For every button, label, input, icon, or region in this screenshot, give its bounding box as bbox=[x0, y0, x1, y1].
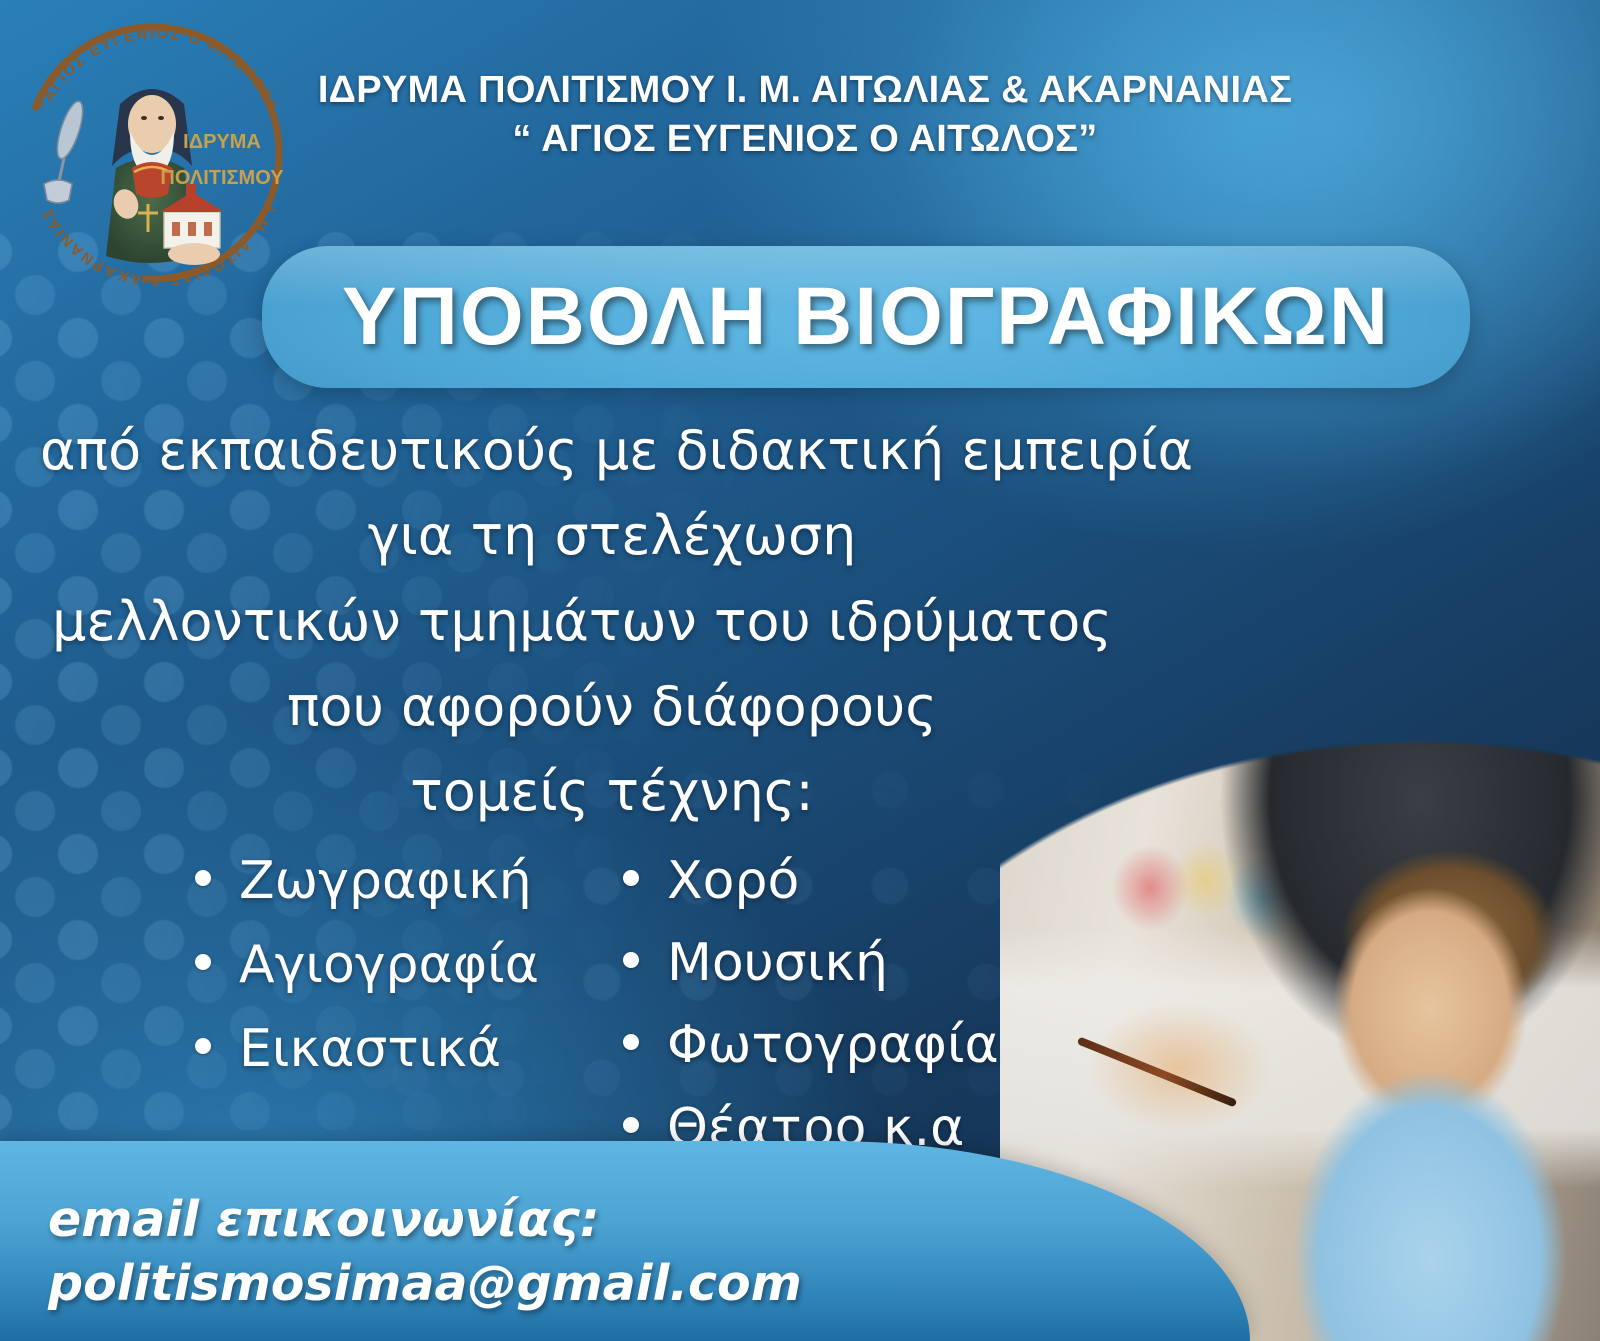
art-field-label: Αγιογραφία bbox=[239, 936, 539, 994]
quill-pen-icon bbox=[44, 99, 88, 203]
bullet-dot-icon bbox=[195, 954, 211, 970]
body-line-1: από εκπαιδευτικούς με διδακτική εμπειρία bbox=[12, 408, 1212, 493]
bullet-dot-icon bbox=[195, 1038, 211, 1054]
art-fields-column-right: Χορό Μουσική Φωτογραφία Θέατρο κ.α bbox=[623, 852, 1043, 1181]
list-item: Εικαστικά bbox=[195, 1020, 585, 1078]
art-field-label: Χορό bbox=[667, 852, 799, 910]
art-fields-columns: Ζωγραφική Αγιογραφία Εικαστικά Χορό Μουσ… bbox=[195, 852, 1055, 1181]
organization-header: ΙΔΡΥΜΑ ΠΟΛΙΤΙΣΜΟΥ Ι. Μ. ΑΙΤΩΛΙΑΣ & ΑΚΑΡΝ… bbox=[190, 66, 1420, 163]
seal-inner-text-line2: ΠΟΛΙΤΙΣΜΟΥ bbox=[160, 167, 284, 189]
organization-name-line2: “ ΑΓΙΟΣ ΕΥΓΕΝΙΟΣ Ο ΑΙΤΩΛΟΣ” bbox=[190, 115, 1420, 164]
bullet-dot-icon bbox=[623, 1117, 639, 1133]
body-copy: από εκπαιδευτικούς με διδακτική εμπειρία… bbox=[12, 408, 1212, 835]
art-field-label: Εικαστικά bbox=[239, 1020, 501, 1078]
list-item: Μουσική bbox=[623, 934, 1043, 992]
bullet-dot-icon bbox=[623, 870, 639, 886]
list-item: Αγιογραφία bbox=[195, 936, 585, 994]
title-banner: ΥΠΟΒΟΛΗ ΒΙΟΓΡΑΦΙΚΩΝ bbox=[262, 246, 1470, 388]
organization-name-line1: ΙΔΡΥΜΑ ΠΟΛΙΤΙΣΜΟΥ Ι. Μ. ΑΙΤΩΛΙΑΣ & ΑΚΑΡΝ… bbox=[318, 69, 1292, 111]
art-fields-column-left: Ζωγραφική Αγιογραφία Εικαστικά bbox=[195, 852, 585, 1181]
bullet-dot-icon bbox=[623, 1034, 639, 1050]
body-line-4: που αφορούν διάφορους bbox=[12, 664, 1212, 749]
list-item: Ζωγραφική bbox=[195, 852, 585, 910]
art-field-label: Μουσική bbox=[667, 934, 888, 992]
contact-label: email επικοινωνίας: bbox=[48, 1188, 802, 1252]
art-field-label: Ζωγραφική bbox=[239, 852, 532, 910]
art-field-label: Φωτογραφία bbox=[667, 1016, 999, 1074]
body-line-3: μελλοντικών τμημάτων του ιδρύματος bbox=[12, 579, 1212, 664]
list-item: Φωτογραφία bbox=[623, 1016, 1043, 1074]
body-line-5: τομείς τέχνης: bbox=[12, 749, 1212, 834]
contact-block: email επικοινωνίας: politismosimaa@gmail… bbox=[48, 1188, 802, 1315]
page-title: ΥΠΟΒΟΛΗ ΒΙΟΓΡΑΦΙΚΩΝ bbox=[342, 270, 1390, 364]
contact-email[interactable]: politismosimaa@gmail.com bbox=[48, 1252, 802, 1316]
bullet-dot-icon bbox=[195, 870, 211, 886]
body-line-2: για τη στελέχωση bbox=[12, 493, 1212, 578]
bullet-dot-icon bbox=[623, 952, 639, 968]
list-item: Χορό bbox=[623, 852, 1043, 910]
poster-root: “ΑΓΙΟΣ ΕΥΓΕΝΙΟΣ Ο ΑΙΤΩΛΟΣ” Ι.Μ. ΑΙΤΩΛΙΑΣ… bbox=[0, 0, 1600, 1341]
